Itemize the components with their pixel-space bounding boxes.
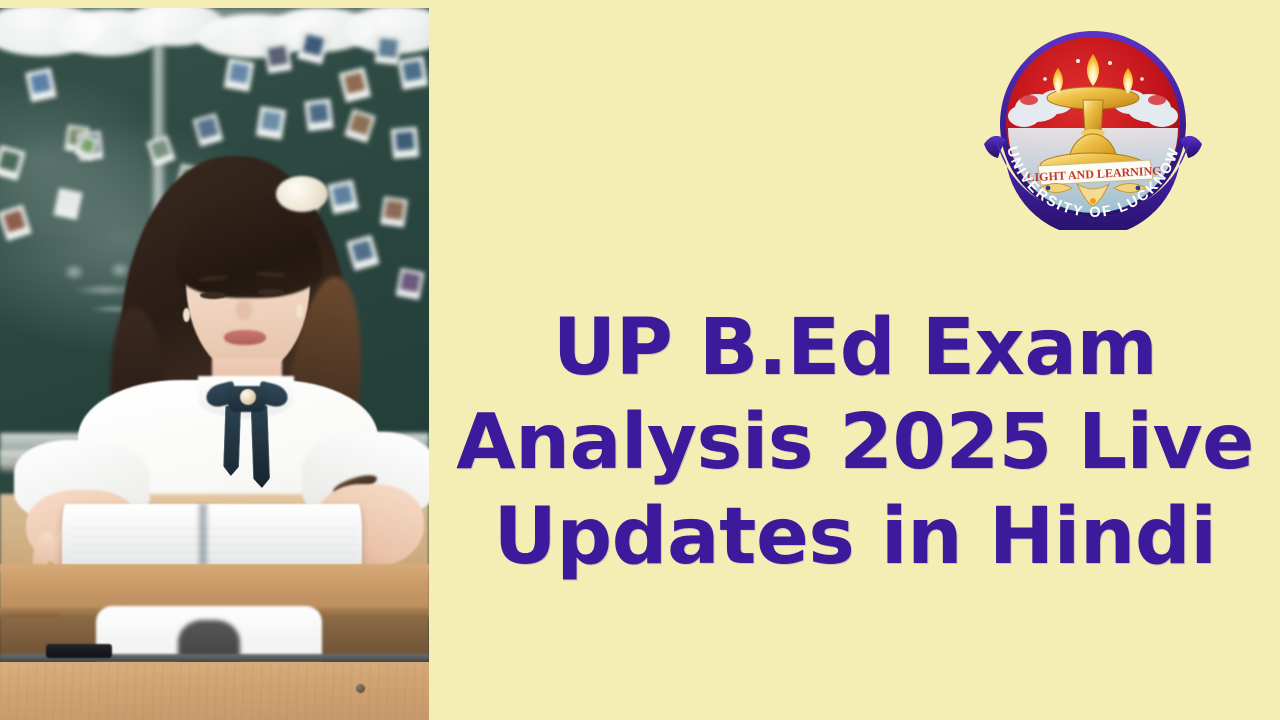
ribbon-brooch <box>240 389 256 405</box>
pinned-photo <box>398 56 429 90</box>
banner-root: LIGHT AND LEARNING UNIVERSITY OF LUCKNOW <box>0 0 1280 720</box>
desk-screw <box>356 684 365 693</box>
phone-on-shelf <box>46 644 112 658</box>
pinned-photo <box>256 106 286 140</box>
pinned-photo <box>264 42 292 73</box>
student-earring-left <box>183 308 190 322</box>
seal-icon: LIGHT AND LEARNING UNIVERSITY OF LUCKNOW <box>982 16 1204 230</box>
pinned-photo <box>304 99 333 132</box>
front-desk-woodgrain <box>0 662 429 720</box>
student-classroom-photo <box>0 8 429 720</box>
headline-line-2: Analysis 2025 Live <box>456 396 1254 490</box>
headline-block: UP B.Ed Exam Analysis 2025 Live Updates … <box>430 258 1280 628</box>
student-nose <box>236 300 252 320</box>
university-of-lucknow-logo: LIGHT AND LEARNING UNIVERSITY OF LUCKNOW <box>982 16 1204 230</box>
student-lips <box>224 330 266 345</box>
student-earring-right <box>296 304 303 318</box>
student-hair-accessory <box>276 176 328 212</box>
headline-line-3: Updates in Hindi <box>494 490 1217 585</box>
student-eye-right <box>258 289 284 296</box>
student-eye-left <box>200 292 226 299</box>
ribbon-tail-left <box>223 406 241 477</box>
pinned-photo <box>380 196 408 227</box>
pinned-photo <box>391 127 420 159</box>
pinned-photo <box>224 58 255 92</box>
ribbon-tail-right <box>251 406 271 489</box>
headline-line-1: UP B.Ed Exam <box>553 301 1158 396</box>
